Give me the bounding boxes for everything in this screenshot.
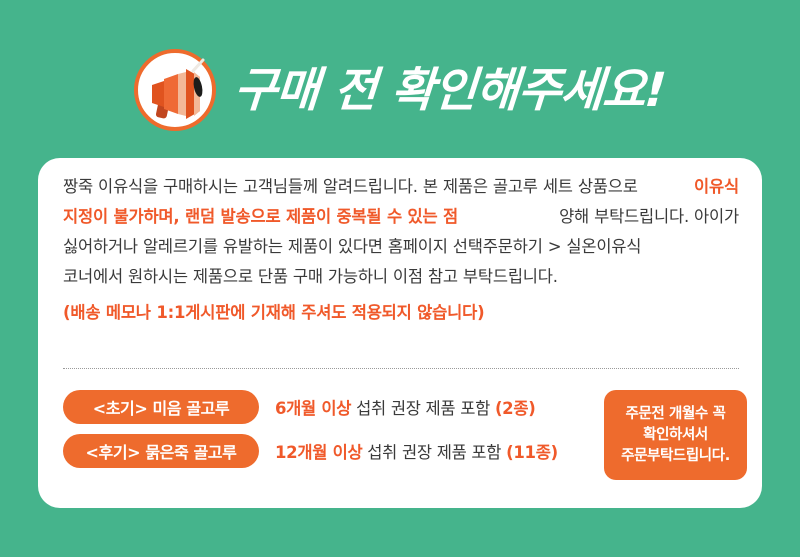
notice-line-2: 지정이 불가하며, 랜덤 발송으로 제품이 중복될 수 있는 점 양해 부탁드립…: [63, 202, 739, 232]
notice-line-2-text: 양해 부탁드립니다. 아이가: [559, 202, 739, 232]
notice-line-1: 짱죽 이유식을 구매하시는 고객님들께 알려드립니다. 본 제품은 골고루 세트…: [63, 172, 739, 202]
stage-pill-early[interactable]: <초기> 미음 골고루: [63, 390, 259, 424]
product-row-list: <초기> 미음 골고루 6개월 이상 섭취 권장 제품 포함 (2종) <후기>…: [63, 390, 583, 478]
product-row: <초기> 미음 골고루 6개월 이상 섭취 권장 제품 포함 (2종): [63, 390, 583, 424]
stage-pill-late[interactable]: <후기> 묽은죽 골고루: [63, 434, 259, 468]
section-divider: [63, 368, 739, 369]
callout-line-1: 주문전 개월수 꼭: [626, 404, 726, 425]
page-title: 구매 전 확인해주세요!: [233, 67, 668, 114]
product-age-highlight: 6개월 이상: [275, 399, 351, 418]
megaphone-icon: [134, 49, 216, 131]
product-row-middle: 섭취 권장 제품 포함: [356, 399, 490, 418]
notice-line-1-text: 짱죽 이유식을 구매하시는 고객님들께 알려드립니다. 본 제품은 골고루 세트…: [63, 172, 638, 202]
promo-banner: 구매 전 확인해주세요! 짱죽 이유식을 구매하시는 고객님들께 알려드립니다.…: [0, 0, 800, 557]
callout-line-2: 확인하셔서: [643, 425, 708, 446]
product-count-badge: (2종): [495, 399, 536, 418]
notice-disclaimer: (배송 메모나 1:1게시판에 기재해 주셔도 적용되지 않습니다): [63, 298, 739, 328]
product-row-middle: 섭취 권장 제품 포함: [367, 443, 501, 462]
product-row-description: 12개월 이상 섭취 권장 제품 포함 (11종): [275, 439, 558, 463]
notice-line-1-highlight: 이유식: [694, 172, 739, 202]
notice-line-3: 싫어하거나 알레르기를 유발하는 제품이 있다면 홈페이지 선택주문하기 > 실…: [63, 232, 739, 262]
notice-line-2-highlight: 지정이 불가하며, 랜덤 발송으로 제품이 중복될 수 있는 점: [63, 202, 458, 232]
notice-paragraph: 짱죽 이유식을 구매하시는 고객님들께 알려드립니다. 본 제품은 골고루 세트…: [63, 172, 739, 328]
product-row-description: 6개월 이상 섭취 권장 제품 포함 (2종): [275, 395, 535, 419]
product-age-highlight: 12개월 이상: [275, 443, 362, 462]
product-row: <후기> 묽은죽 골고루 12개월 이상 섭취 권장 제품 포함 (11종): [63, 434, 583, 468]
banner-header: 구매 전 확인해주세요!: [0, 44, 800, 136]
callout-line-3: 주문부탁드립니다.: [621, 446, 730, 467]
notice-card: 짱죽 이유식을 구매하시는 고객님들께 알려드립니다. 본 제품은 골고루 세트…: [38, 158, 762, 508]
notice-line-4: 코너에서 원하시는 제품으로 단품 구매 가능하니 이점 참고 부탁드립니다.: [63, 262, 739, 292]
product-count-badge: (11종): [506, 443, 558, 462]
order-reminder-callout: 주문전 개월수 꼭 확인하셔서 주문부탁드립니다.: [604, 390, 747, 480]
